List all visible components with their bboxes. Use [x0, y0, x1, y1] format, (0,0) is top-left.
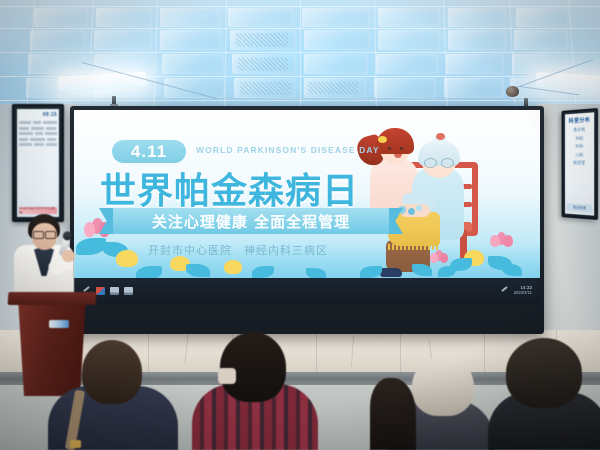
yellow-flower-left3 — [224, 260, 242, 274]
monitor-icon-2[interactable] — [124, 287, 133, 295]
pen-tray-icon[interactable] — [500, 287, 509, 295]
directory-item: 检验室 — [573, 160, 585, 166]
audience-member-5 — [370, 378, 416, 450]
left-board-footer: 欢迎光临开封市中心医院 — [19, 207, 57, 214]
face-mask-icon — [218, 368, 236, 384]
dome-speaker-icon — [506, 86, 519, 97]
right-wall-directory-board: 科室分布 急诊科 内科 外科 儿科 检验室 导诊咨询 — [562, 108, 598, 220]
screen-taskbar[interactable]: 14:32 2023/4/11 — [74, 278, 540, 304]
presentation-slide: 4.11 WORLD PARKINSON'S DISEASE DAY 世界帕金森… — [74, 110, 540, 304]
ribbon-label: 关注心理健康 全面全程管理 — [152, 211, 350, 232]
directory-item: 急诊科 — [573, 127, 585, 133]
yellow-flower-left — [116, 250, 138, 267]
hair-scrunchie — [378, 136, 387, 143]
taskbar-tray[interactable]: 14:32 2023/4/11 — [500, 286, 532, 295]
directory-footer: 导诊咨询 — [567, 203, 592, 212]
slide-illustration — [342, 118, 522, 286]
left-wall-display-board: 09:15 欢迎光临开封市中心医院 — [12, 104, 64, 222]
organization-label: 开封市中心医院 神经内科三病区 — [148, 242, 328, 258]
directory-item: 外科 — [575, 143, 583, 149]
taskbar-clock[interactable]: 14:32 2023/4/11 — [514, 286, 532, 295]
speaker-glasses-icon — [33, 231, 56, 237]
ceiling — [0, 0, 600, 112]
windows-icon[interactable] — [96, 287, 105, 295]
english-title: WORLD PARKINSON'S DISEASE DAY — [196, 145, 380, 155]
directory-item: 内科 — [575, 135, 583, 141]
clock-date: 2023/4/11 — [514, 291, 532, 295]
audience-member-1 — [48, 340, 178, 450]
pink-lotus-flower — [490, 232, 512, 248]
led-display-screen[interactable]: 4.11 WORLD PARKINSON'S DISEASE DAY 世界帕金森… — [70, 106, 544, 334]
audience-member-2 — [192, 332, 318, 450]
slide-ribbon-banner: 关注心理健康 全面全程管理 — [112, 208, 390, 234]
presentation-room-photo: 09:15 欢迎光临开封市中心医院 科室分布 急诊科 内科 外科 儿科 检验室 … — [0, 0, 600, 450]
bag-buckle-icon — [70, 440, 81, 448]
sprinkler-left — [112, 96, 116, 105]
speaker-hand — [62, 250, 75, 262]
podium-emblem-icon — [49, 320, 69, 328]
date-badge: 4.11 — [112, 140, 186, 163]
screen-content: 4.11 WORLD PARKINSON'S DISEASE DAY 世界帕金森… — [74, 110, 540, 304]
date-badge-label: 4.11 — [131, 142, 167, 162]
audience-member-4 — [488, 340, 600, 450]
directory-title: 科室分布 — [569, 116, 590, 125]
slide-main-title: 世界帕金森病日 — [100, 162, 359, 214]
monitor-icon[interactable] — [110, 287, 119, 295]
pink-lotus-flower — [430, 250, 448, 264]
left-board-header: 09:15 — [19, 112, 57, 118]
shoe — [380, 268, 402, 277]
left-board-rows — [19, 121, 57, 207]
eyeglasses-icon — [424, 158, 454, 166]
directory-item: 儿科 — [575, 152, 583, 158]
directory-list: 急诊科 内科 外科 儿科 检验室 — [573, 127, 585, 166]
hair-flower-icon — [436, 133, 445, 140]
